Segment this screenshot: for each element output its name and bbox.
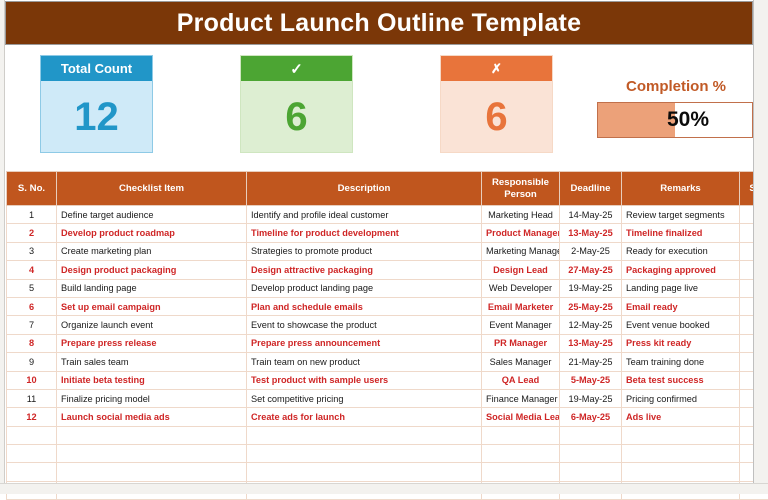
kpi-card-completed-count: ✓ 6 [240,55,353,153]
cell-empty[interactable] [7,426,57,444]
table-row[interactable]: 8Prepare press releasePrepare press anno… [7,334,768,352]
cell-deadline[interactable]: 21-May-25 [560,353,622,371]
spreadsheet-page: Product Launch Outline Template Total Co… [0,0,768,494]
table-row[interactable]: 6Set up email campaignPlan and schedule … [7,297,768,315]
cell-empty[interactable] [482,463,560,481]
cell-responsible-person[interactable]: Event Manager [482,316,560,334]
table-row[interactable]: 1Define target audienceIdentify and prof… [7,206,768,224]
cell-remarks[interactable]: Press kit ready [622,334,740,352]
right-edge-strip [753,0,768,494]
table-row-empty[interactable] [7,463,768,481]
kpi-total-count-value: 12 [41,81,152,152]
table-row[interactable]: 12Launch social media adsCreate ads for … [7,408,768,426]
page-title: Product Launch Outline Template [177,9,581,38]
cell-empty[interactable] [247,426,482,444]
cell-checklist-item[interactable]: Set up email campaign [57,297,247,315]
cell-description[interactable]: Design attractive packaging [247,261,482,279]
cell-sno[interactable]: 2 [7,224,57,242]
cell-empty[interactable] [7,445,57,463]
completion-value: 50% [598,103,752,137]
table-row[interactable]: 4Design product packagingDesign attracti… [7,261,768,279]
table-row[interactable]: 9Train sales teamTrain team on new produ… [7,353,768,371]
cross-icon: ✗ [441,56,552,81]
cell-empty[interactable] [247,463,482,481]
cell-remarks[interactable]: Event venue booked [622,316,740,334]
col-header-remarks: Remarks [622,172,740,206]
cell-description[interactable]: Plan and schedule emails [247,297,482,315]
cell-remarks[interactable]: Pricing confirmed [622,389,740,407]
cell-checklist-item[interactable]: Launch social media ads [57,408,247,426]
cell-remarks[interactable]: Review target segments [622,206,740,224]
bottom-edge-strip [0,483,768,494]
cell-checklist-item[interactable]: Define target audience [57,206,247,224]
col-header-deadline: Deadline [560,172,622,206]
cell-deadline[interactable]: 2-May-25 [560,242,622,260]
cell-sno[interactable]: 12 [7,408,57,426]
cell-responsible-person[interactable]: PR Manager [482,334,560,352]
table-row[interactable]: 2Develop product roadmapTimeline for pro… [7,224,768,242]
cell-remarks[interactable]: Ads live [622,408,740,426]
cell-responsible-person[interactable]: Marketing Head [482,206,560,224]
cell-responsible-person[interactable]: Web Developer [482,279,560,297]
checklist-table: S. No. Checklist Item Description Respon… [6,171,768,500]
cell-remarks[interactable]: Ready for execution [622,242,740,260]
cell-empty[interactable] [560,445,622,463]
cell-sno[interactable]: 1 [7,206,57,224]
table-row[interactable]: 10Initiate beta testingTest product with… [7,371,768,389]
cell-empty[interactable] [622,426,740,444]
cell-description[interactable]: Identify and profile ideal customer [247,206,482,224]
cell-sno[interactable]: 9 [7,353,57,371]
cell-deadline[interactable]: 13-May-25 [560,334,622,352]
cell-sno[interactable]: 8 [7,334,57,352]
table-row-empty[interactable] [7,445,768,463]
col-header-item: Checklist Item [57,172,247,206]
col-header-desc: Description [247,172,482,206]
cell-deadline[interactable]: 6-May-25 [560,408,622,426]
table-header-row: S. No. Checklist Item Description Respon… [7,172,768,206]
cell-empty[interactable] [622,463,740,481]
page-title-bar: Product Launch Outline Template [5,1,753,45]
cell-remarks[interactable]: Beta test success [622,371,740,389]
cell-checklist-item[interactable]: Create marketing plan [57,242,247,260]
check-icon: ✓ [241,56,352,81]
completion-progress-bar: 50% [597,102,753,138]
cell-empty[interactable] [622,445,740,463]
cell-deadline[interactable]: 5-May-25 [560,371,622,389]
cell-empty[interactable] [482,445,560,463]
cell-responsible-person[interactable]: Product Manager [482,224,560,242]
cell-checklist-item[interactable]: Prepare press release [57,334,247,352]
cell-responsible-person[interactable]: Email Marketer [482,297,560,315]
cell-deadline[interactable]: 27-May-25 [560,261,622,279]
cell-deadline[interactable]: 14-May-25 [560,206,622,224]
cell-description[interactable]: Develop product landing page [247,279,482,297]
cell-responsible-person[interactable]: Marketing Manager [482,242,560,260]
cell-checklist-item[interactable]: Finalize pricing model [57,389,247,407]
cell-remarks[interactable]: Timeline finalized [622,224,740,242]
cell-empty[interactable] [57,426,247,444]
cell-responsible-person[interactable]: Social Media Lead [482,408,560,426]
checklist-table-body: 1Define target audienceIdentify and prof… [7,206,768,500]
table-row[interactable]: 11Finalize pricing modelSet competitive … [7,389,768,407]
cell-remarks[interactable]: Packaging approved [622,261,740,279]
kpi-card-total-count: Total Count 12 [40,55,153,153]
cell-sno[interactable]: 7 [7,316,57,334]
cell-description[interactable]: Prepare press announcement [247,334,482,352]
cell-empty[interactable] [247,445,482,463]
cell-remarks[interactable]: Team training done [622,353,740,371]
cell-empty[interactable] [57,463,247,481]
cell-empty[interactable] [560,463,622,481]
cell-deadline[interactable]: 19-May-25 [560,389,622,407]
cell-checklist-item[interactable]: Design product packaging [57,261,247,279]
cell-description[interactable]: Train team on new product [247,353,482,371]
cell-empty[interactable] [560,426,622,444]
cell-checklist-item[interactable]: Organize launch event [57,316,247,334]
cell-responsible-person[interactable]: QA Lead [482,371,560,389]
cell-sno[interactable]: 10 [7,371,57,389]
table-row[interactable]: 5Build landing pageDevelop product landi… [7,279,768,297]
cell-sno[interactable]: 6 [7,297,57,315]
cell-deadline[interactable]: 12-May-25 [560,316,622,334]
cell-sno[interactable]: 3 [7,242,57,260]
table-row[interactable]: 7Organize launch eventEvent to showcase … [7,316,768,334]
cell-checklist-item[interactable]: Build landing page [57,279,247,297]
col-header-resp: Responsible Person [482,172,560,206]
cell-description[interactable]: Test product with sample users [247,371,482,389]
kpi-total-count-label: Total Count [41,56,152,81]
cell-checklist-item[interactable]: Train sales team [57,353,247,371]
table-row[interactable]: 3Create marketing planStrategies to prom… [7,242,768,260]
cell-description[interactable]: Timeline for product development [247,224,482,242]
table-row-empty[interactable] [7,426,768,444]
checklist-table-wrap: S. No. Checklist Item Description Respon… [6,171,753,481]
left-edge-strip [0,0,5,494]
col-header-sno: S. No. [7,172,57,206]
cell-remarks[interactable]: Landing page live [622,279,740,297]
cell-empty[interactable] [57,445,247,463]
cell-empty[interactable] [482,426,560,444]
cell-sno[interactable]: 5 [7,279,57,297]
kpi-completed-count-value: 6 [241,81,352,152]
cell-deadline[interactable]: 19-May-25 [560,279,622,297]
cell-deadline[interactable]: 13-May-25 [560,224,622,242]
cell-empty[interactable] [7,463,57,481]
kpi-pending-count-value: 6 [441,81,552,152]
cell-checklist-item[interactable]: Develop product roadmap [57,224,247,242]
cell-responsible-person[interactable]: Sales Manager [482,353,560,371]
cell-description[interactable]: Set competitive pricing [247,389,482,407]
cell-deadline[interactable]: 25-May-25 [560,297,622,315]
cell-sno[interactable]: 11 [7,389,57,407]
cell-description[interactable]: Strategies to promote product [247,242,482,260]
cell-sno[interactable]: 4 [7,261,57,279]
cell-responsible-person[interactable]: Finance Manager [482,389,560,407]
completion-label: Completion % [600,78,752,95]
cell-description[interactable]: Event to showcase the product [247,316,482,334]
cell-checklist-item[interactable]: Initiate beta testing [57,371,247,389]
cell-responsible-person[interactable]: Design Lead [482,261,560,279]
kpi-card-pending-count: ✗ 6 [440,55,553,153]
cell-description[interactable]: Create ads for launch [247,408,482,426]
cell-remarks[interactable]: Email ready [622,297,740,315]
